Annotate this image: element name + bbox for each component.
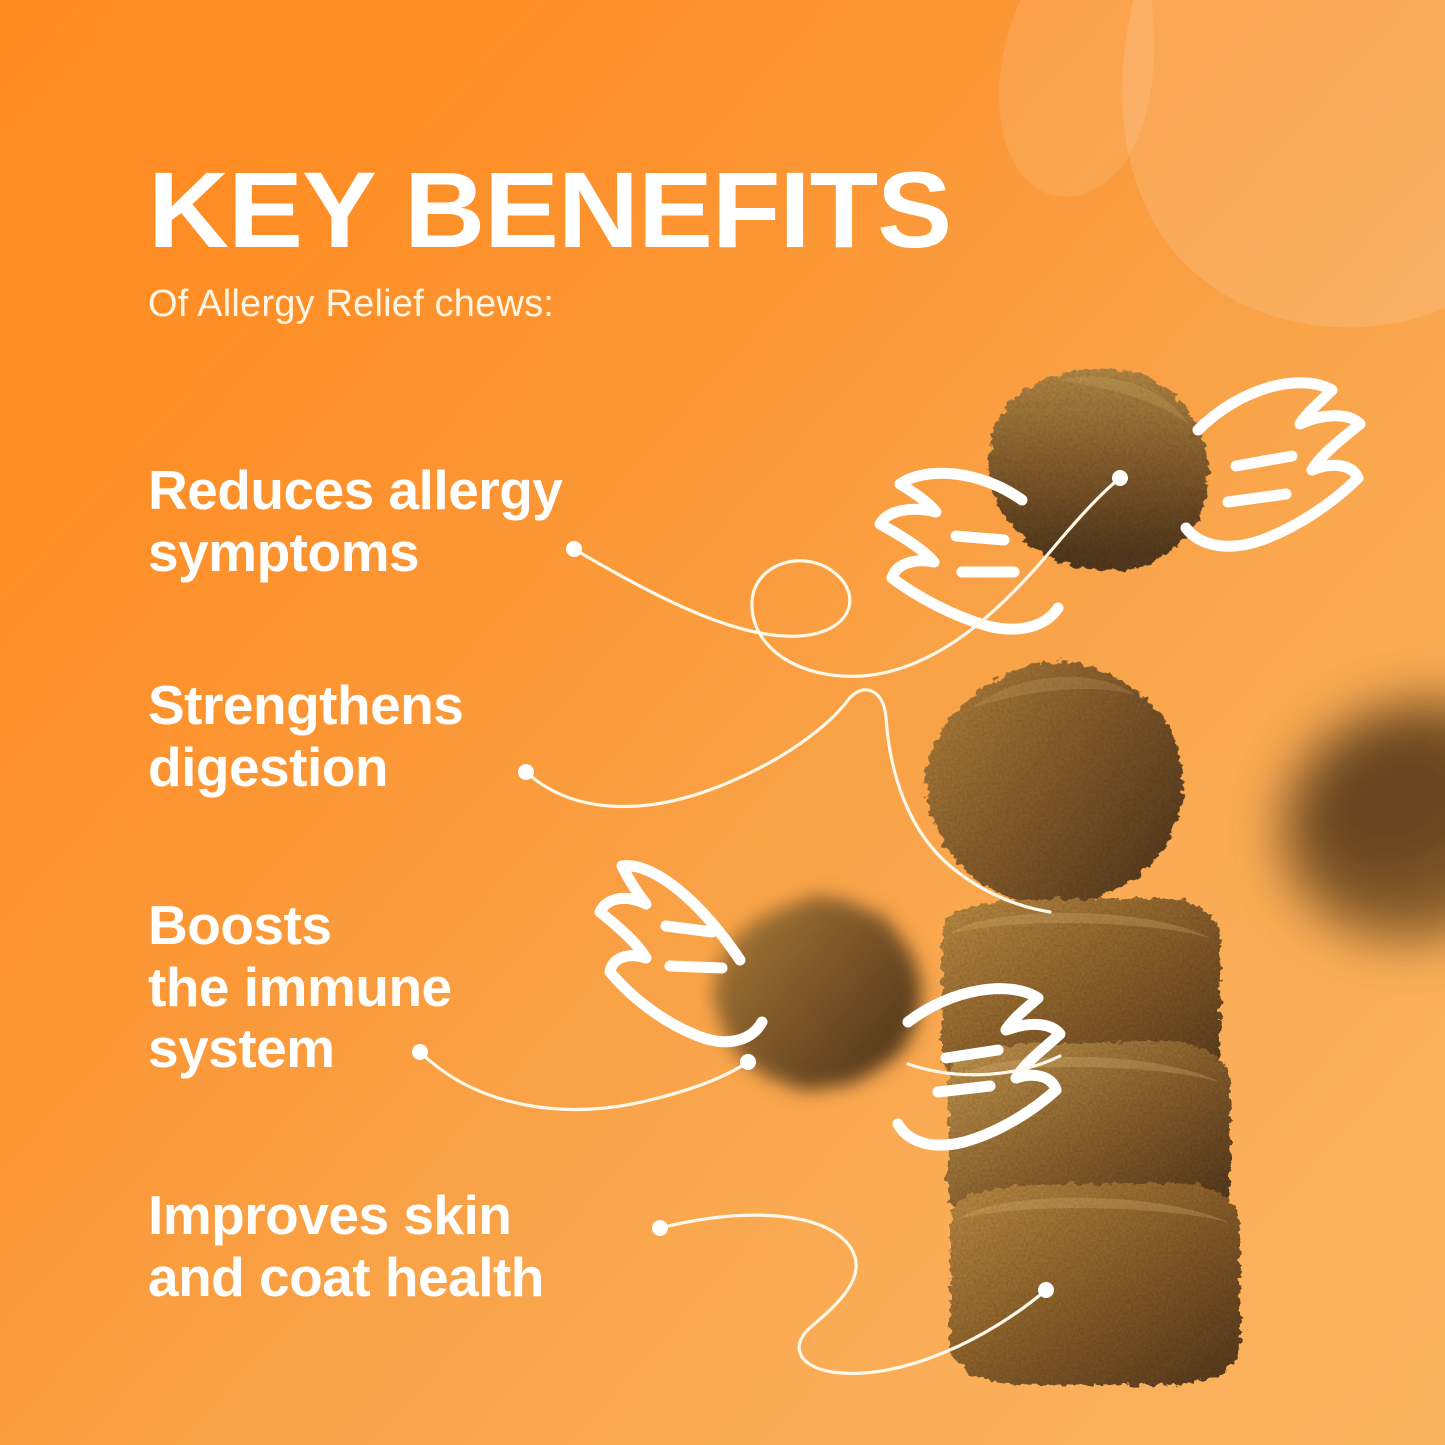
chew-fourth [948,1042,1230,1232]
page-subtitle: Of Allergy Relief chews: [148,284,1268,326]
wing-right-top [1186,383,1360,547]
chew-third [942,898,1220,1096]
wing-right-floating [898,989,1060,1145]
key-benefits-poster: KEY BENEFITS Of Allergy Relief chews: Re… [0,0,1445,1445]
header: KEY BENEFITS Of Allergy Relief chews: [148,158,1268,325]
chew-top [966,342,1231,593]
page-title: KEY BENEFITS [148,158,1313,262]
wing-left-floating [600,866,762,1042]
connector-line-3 [420,1052,748,1109]
chew-bottom [950,1183,1240,1385]
connector-line-1 [574,478,1120,676]
chew-second [907,642,1202,926]
connector-dots [412,470,1128,1298]
connector-line-3b [908,1056,1060,1075]
connector-line-2 [526,690,1050,912]
wing-left-top [880,473,1058,629]
blurred-chew-right [1250,665,1445,976]
floating-chew [702,884,933,1102]
connector-line-4 [660,1215,1046,1373]
benefit-item-boosts-immune-system: Boosts the immune system [148,895,452,1080]
benefit-item-reduces-allergy-symptoms: Reduces allergy symptoms [148,460,562,583]
benefit-item-improves-skin-coat: Improves skin and coat health [148,1185,544,1308]
benefit-item-strengthens-digestion: Strengthens digestion [148,675,463,798]
